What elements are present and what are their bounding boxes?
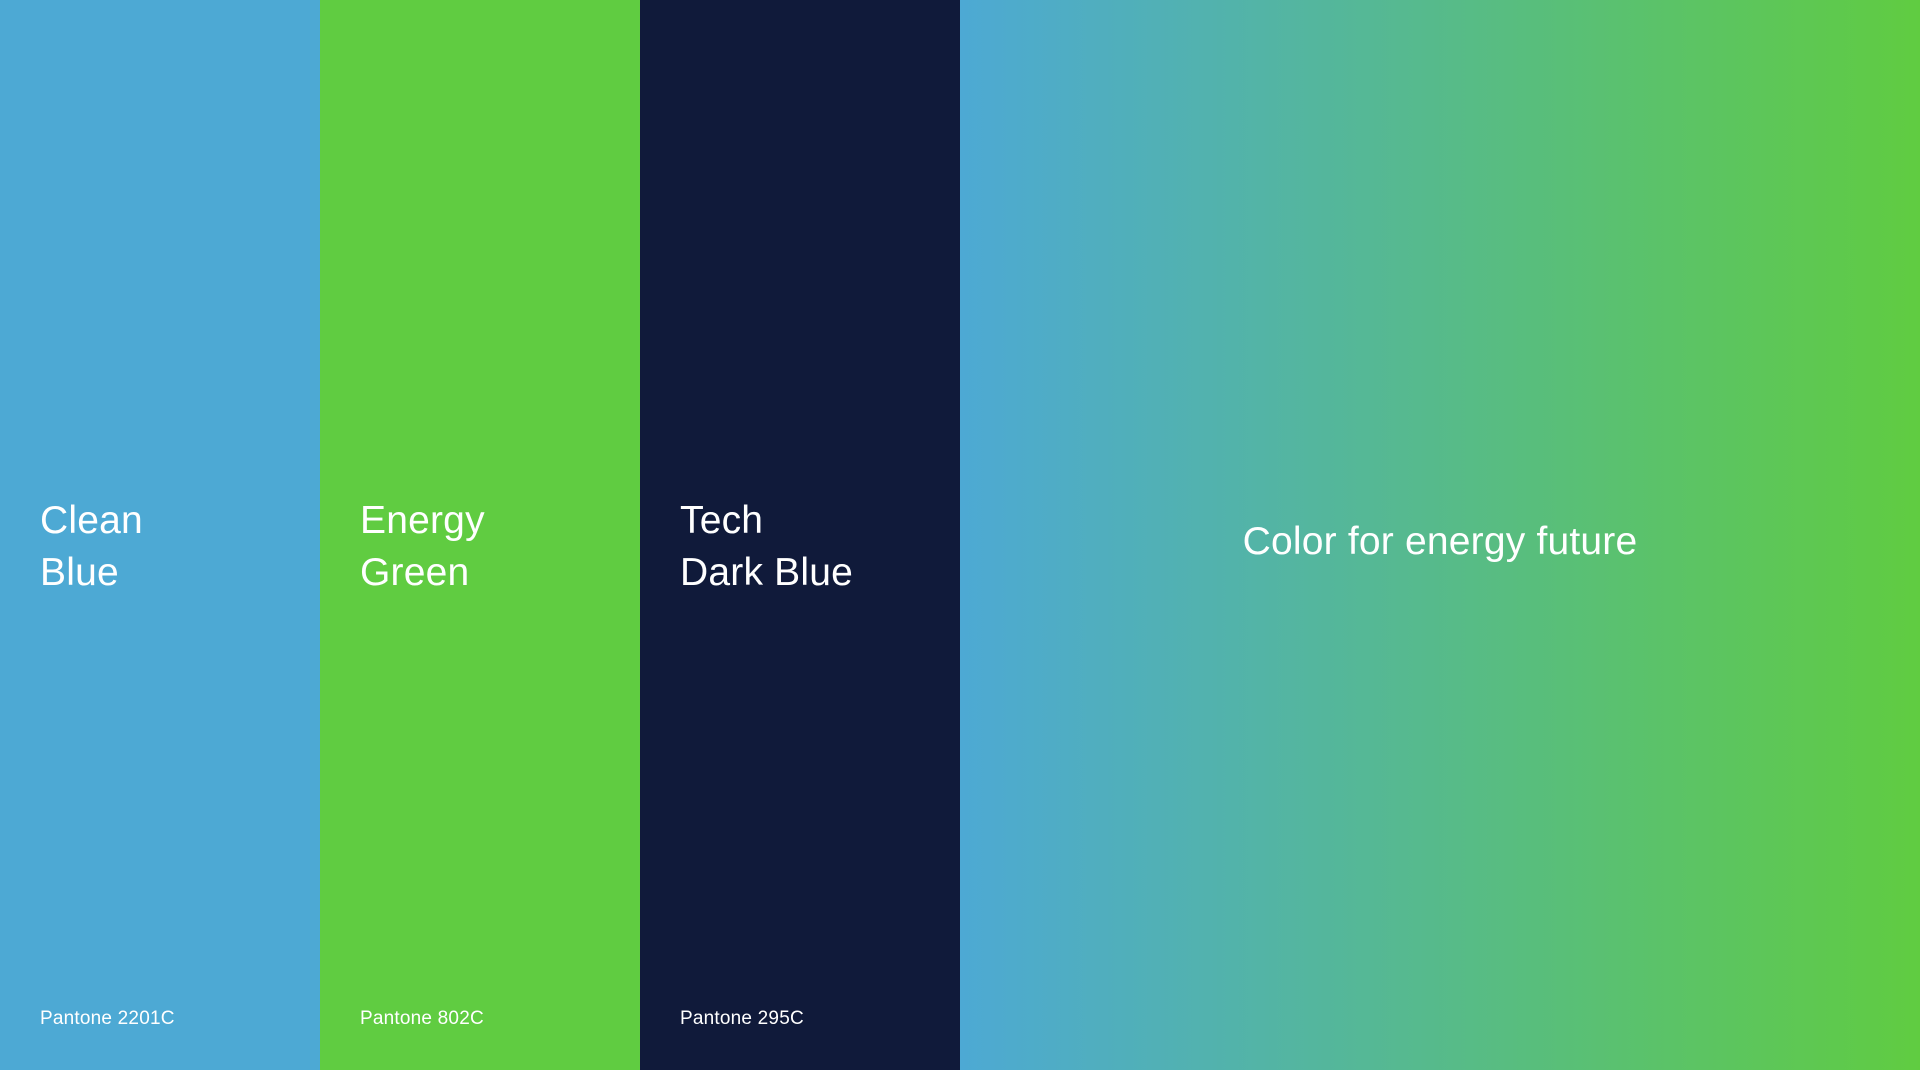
color-swatch-energy-green[interactable]: Energy Green Pantone 802C [320, 0, 640, 1070]
swatch-pantone-code-clean-blue: Pantone 2201C [40, 1008, 175, 1030]
swatch-name-tech-dark-blue: Tech Dark Blue [680, 495, 853, 599]
swatch-name-clean-blue: Clean Blue [40, 495, 143, 599]
swatch-pantone-code-energy-green: Pantone 802C [360, 1008, 484, 1030]
color-palette-board: Clean Blue Pantone 2201C Energy Green Pa… [0, 0, 1920, 1080]
swatch-name-energy-green: Energy Green [360, 495, 485, 599]
gradient-tagline: Color for energy future [960, 516, 1920, 568]
gradient-swatch-panel[interactable]: Color for energy future [960, 0, 1920, 1070]
color-swatch-clean-blue[interactable]: Clean Blue Pantone 2201C [0, 0, 320, 1070]
swatch-pantone-code-tech-dark-blue: Pantone 295C [680, 1008, 804, 1030]
color-swatch-tech-dark-blue[interactable]: Tech Dark Blue Pantone 295C [640, 0, 960, 1070]
